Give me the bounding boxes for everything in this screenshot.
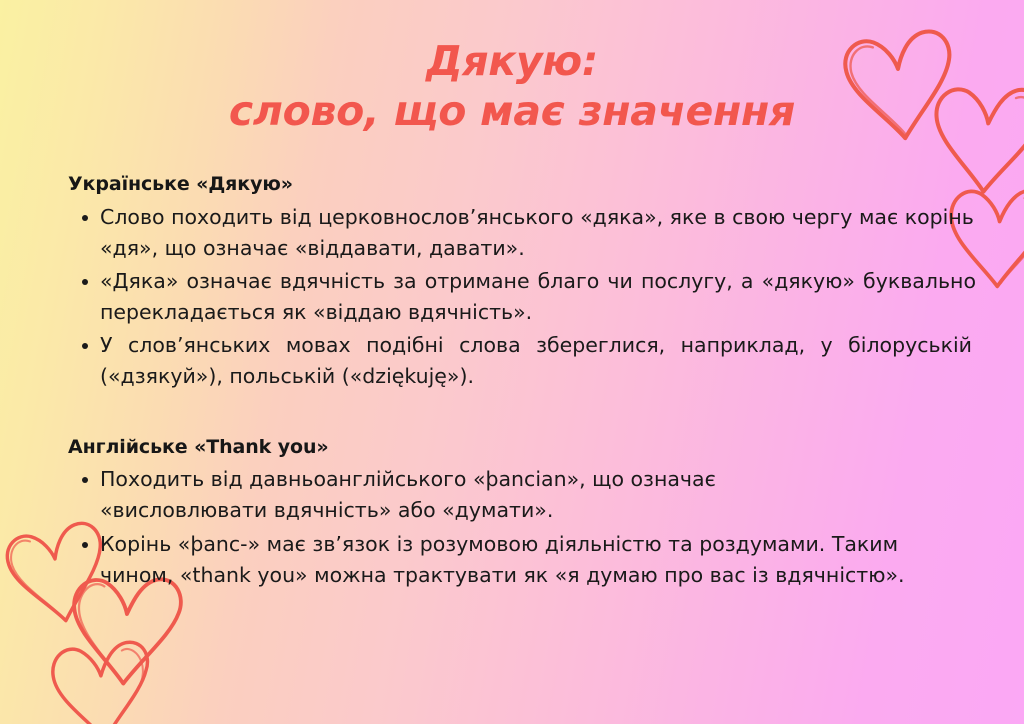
title-line-1: Дякую: — [0, 36, 1024, 86]
list-item: Корінь «þanc-» має зв’язок із розумовою … — [68, 529, 930, 591]
list-item: Походить від давньоанглійського «þancian… — [68, 464, 860, 526]
bullet-list-ukrainian: Слово походить від церковнослов’янського… — [68, 202, 968, 393]
slide-body: Українське «Дякую» Слово походить від це… — [68, 172, 968, 595]
title-line-2: слово, що має значення — [0, 86, 1024, 136]
bullet-list-english: Походить від давньоанглійського «þancian… — [68, 464, 968, 591]
section-english: Англійське «Thank you» Походить від давн… — [68, 435, 968, 591]
section-ukrainian: Українське «Дякую» Слово походить від це… — [68, 172, 968, 393]
list-item: «Дяка» означає вдячність за отримане бла… — [68, 266, 976, 328]
slide-canvas: Дякую: слово, що має значення Українське… — [0, 0, 1024, 724]
section-heading-ukrainian: Українське «Дякую» — [68, 172, 968, 198]
list-item: Слово походить від церковнослов’янського… — [68, 202, 980, 264]
slide-title: Дякую: слово, що має значення — [0, 36, 1024, 136]
list-item: У слов’янських мовах подібні слова збере… — [68, 330, 972, 392]
heart-icon-bottom-left-3 — [44, 634, 159, 724]
section-heading-english: Англійське «Thank you» — [68, 435, 968, 461]
